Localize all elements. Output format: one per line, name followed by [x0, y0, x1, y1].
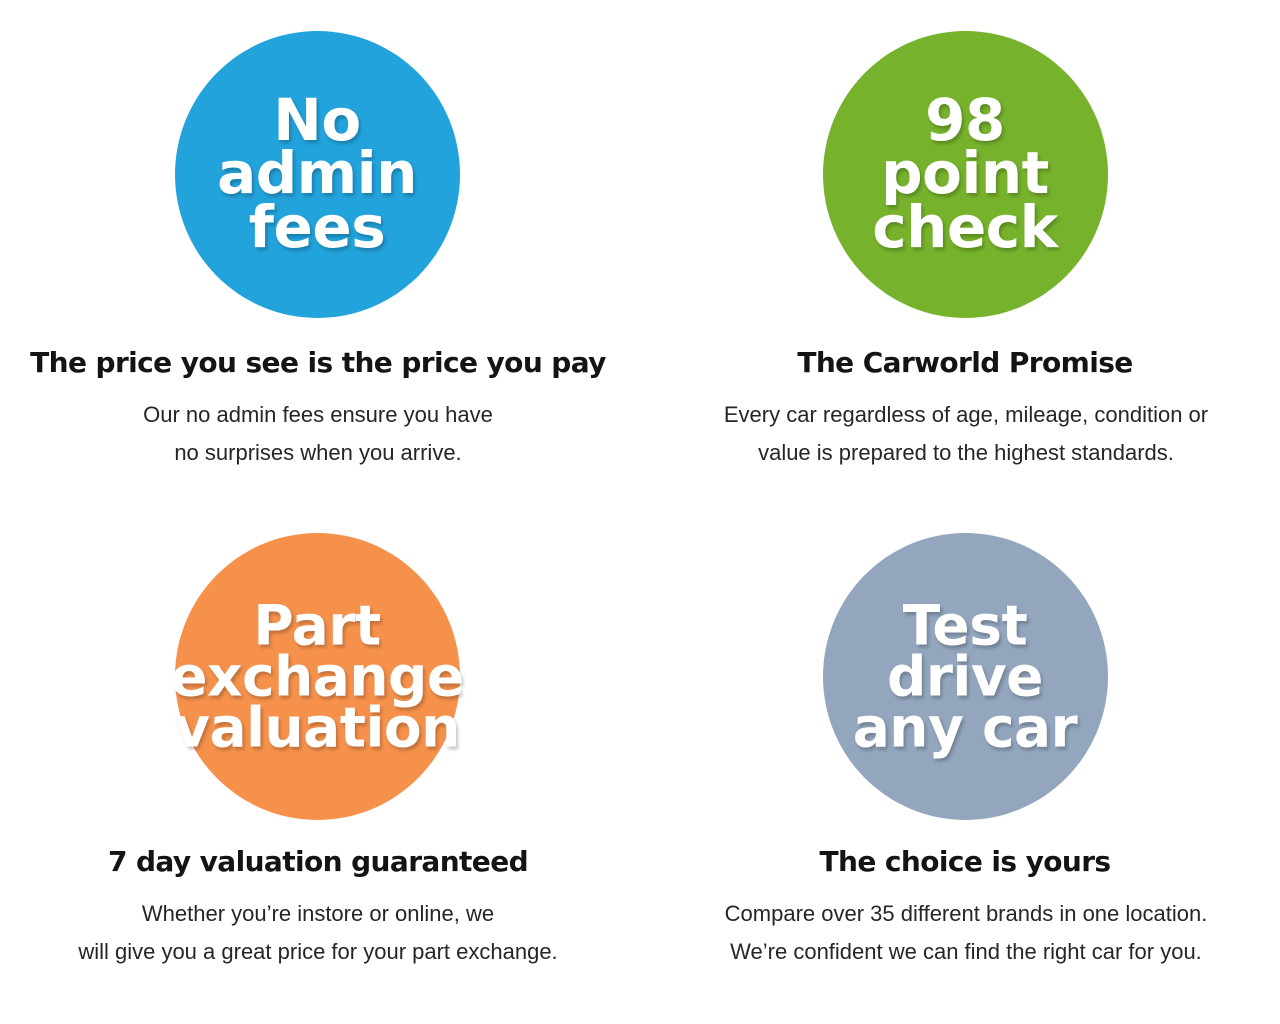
card-headline: The price you see is the price you pay [30, 346, 606, 379]
no-admin-fees-badge: No admin fees [175, 31, 460, 318]
benefit-card-98-point-check: 98 point check The Carworld Promise Ever… [640, 0, 1280, 512]
card-body-text: Every car regardless of age, mileage, co… [724, 396, 1208, 472]
card-body-text: Whether you’re instore or online, we wil… [78, 895, 557, 971]
card-headline: 7 day valuation guaranteed [108, 845, 528, 878]
part-exchange-valuation-badge: Part exchange valuation [175, 533, 460, 820]
card-headline: The Carworld Promise [797, 346, 1132, 379]
card-body-text: Compare over 35 different brands in one … [725, 895, 1208, 971]
benefit-card-part-exchange-valuation: Part exchange valuation 7 day valuation … [0, 512, 640, 1024]
benefits-grid: No admin fees The price you see is the p… [0, 0, 1280, 1024]
badge-label: No admin fees [147, 94, 487, 256]
badge-label: Test drive any car [795, 600, 1135, 753]
badge-label: 98 point check [795, 94, 1135, 256]
card-body-text: Our no admin fees ensure you have no sur… [143, 396, 493, 472]
98-point-check-badge: 98 point check [823, 31, 1108, 318]
card-headline: The choice is yours [820, 845, 1111, 878]
badge-label: Part exchange valuation [137, 600, 497, 753]
test-drive-any-car-badge: Test drive any car [823, 533, 1108, 820]
benefit-card-test-drive-any-car: Test drive any car The choice is yours C… [640, 512, 1280, 1024]
benefit-card-no-admin-fees: No admin fees The price you see is the p… [0, 0, 640, 512]
